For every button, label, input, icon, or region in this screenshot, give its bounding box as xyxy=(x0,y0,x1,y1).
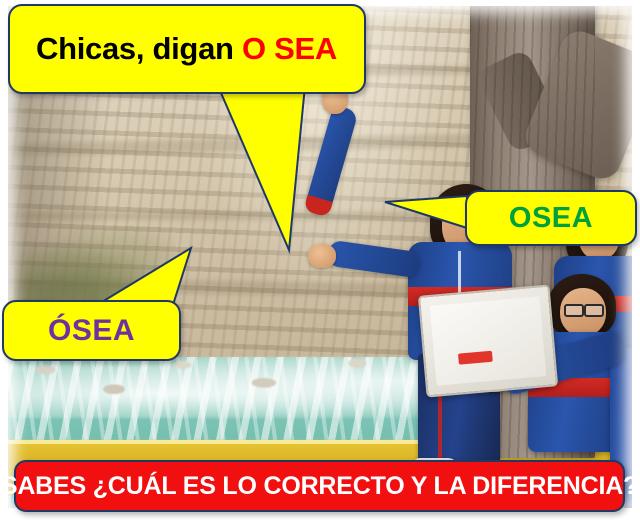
top-speech-bubble[interactable]: Chicas, digan O SEA xyxy=(8,4,366,94)
bottom-question-banner[interactable]: SABES ¿CUÁL ES LO CORRECTO Y LA DIFERENC… xyxy=(14,460,625,512)
top-bubble-text-black: Chicas, digan xyxy=(36,31,234,66)
right-speech-bubble[interactable]: OSEA xyxy=(465,190,637,246)
hand xyxy=(308,244,336,268)
tablet-screen xyxy=(430,296,547,386)
tracksuit-pants xyxy=(624,506,632,508)
eyeglasses xyxy=(584,304,604,317)
eyeglasses xyxy=(564,304,584,317)
top-bubble-text-red: O SEA xyxy=(242,31,337,66)
tablet-device xyxy=(418,284,558,397)
right-bubble-text: OSEA xyxy=(509,202,593,235)
banner-text: SABES ¿CUÁL ES LO CORRECTO Y LA DIFERENC… xyxy=(1,472,638,501)
left-speech-bubble[interactable]: ÓSEA xyxy=(2,300,181,361)
left-bubble-text: ÓSEA xyxy=(48,314,135,348)
meme-image: Chicas, digan O SEA OSEA ÓSEA SABES ¿CUÁ… xyxy=(0,0,640,526)
top-bubble-text: Chicas, digan O SEA xyxy=(36,31,337,67)
